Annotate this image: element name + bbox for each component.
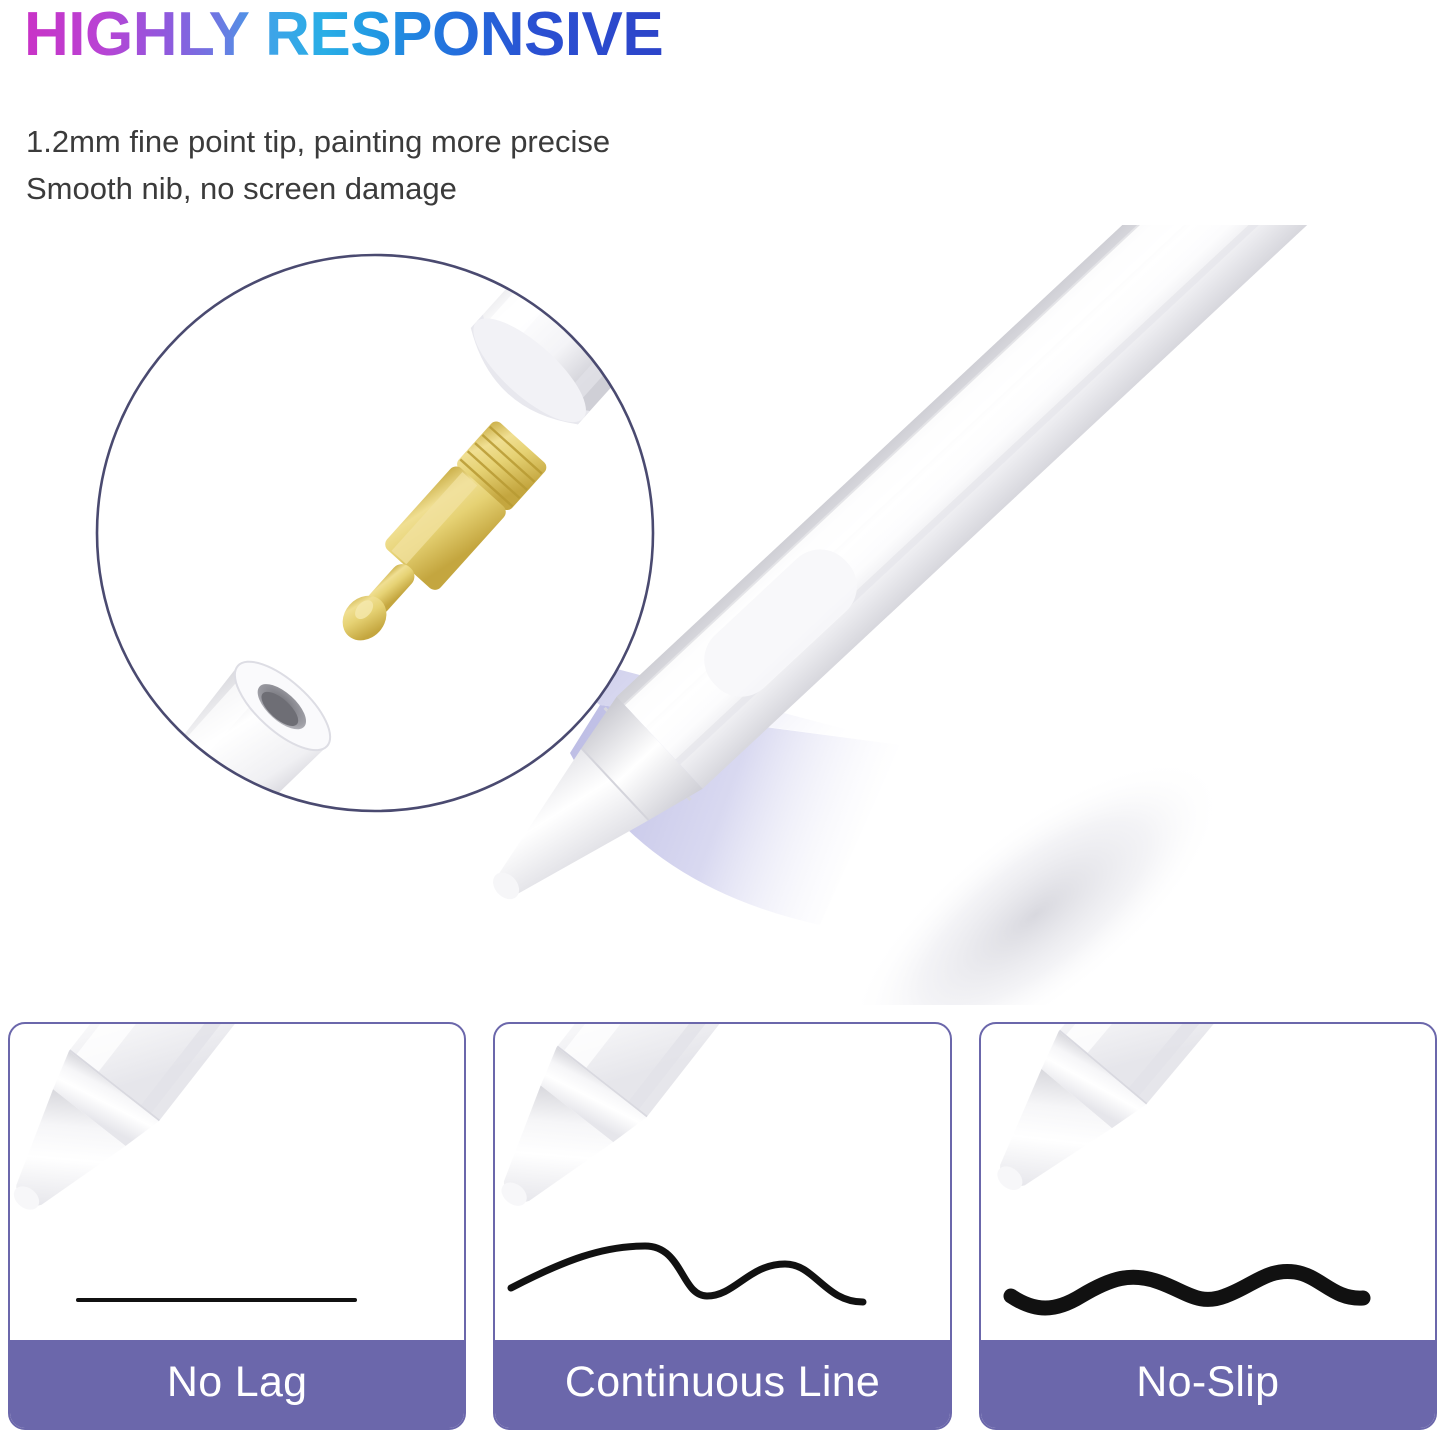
hero-illustration: [0, 225, 1445, 1005]
card-label-continuous-line: Continuous Line: [565, 1361, 880, 1407]
card-footer-continuous-line: Continuous Line: [495, 1340, 949, 1428]
rotation-arrow-icon: [174, 813, 391, 984]
feature-card-no-slip[interactable]: No-Slip: [979, 1022, 1437, 1430]
page-title: HIGHLY RESPONSIVE: [24, 2, 663, 67]
card-illustration-continuous-line: [495, 1024, 949, 1342]
feature-cards: No Lag: [0, 1022, 1445, 1430]
card-label-no-slip: No-Slip: [1136, 1361, 1279, 1407]
card-illustration-no-lag: [10, 1024, 464, 1342]
hero-svg: [0, 225, 1445, 1005]
feature-card-no-lag[interactable]: No Lag: [8, 1022, 466, 1430]
stroke-line-thick-wave: [1011, 1271, 1363, 1308]
stroke-line-thin-wave: [511, 1246, 863, 1302]
card-illustration-no-slip: [981, 1024, 1435, 1342]
page-subtitle: 1.2mm fine point tip, painting more prec…: [26, 118, 610, 212]
card-footer-no-slip: No-Slip: [981, 1340, 1435, 1428]
card-footer-no-lag: No Lag: [10, 1340, 464, 1428]
feature-card-continuous-line[interactable]: Continuous Line: [493, 1022, 951, 1430]
card-label-no-lag: No Lag: [167, 1361, 307, 1407]
